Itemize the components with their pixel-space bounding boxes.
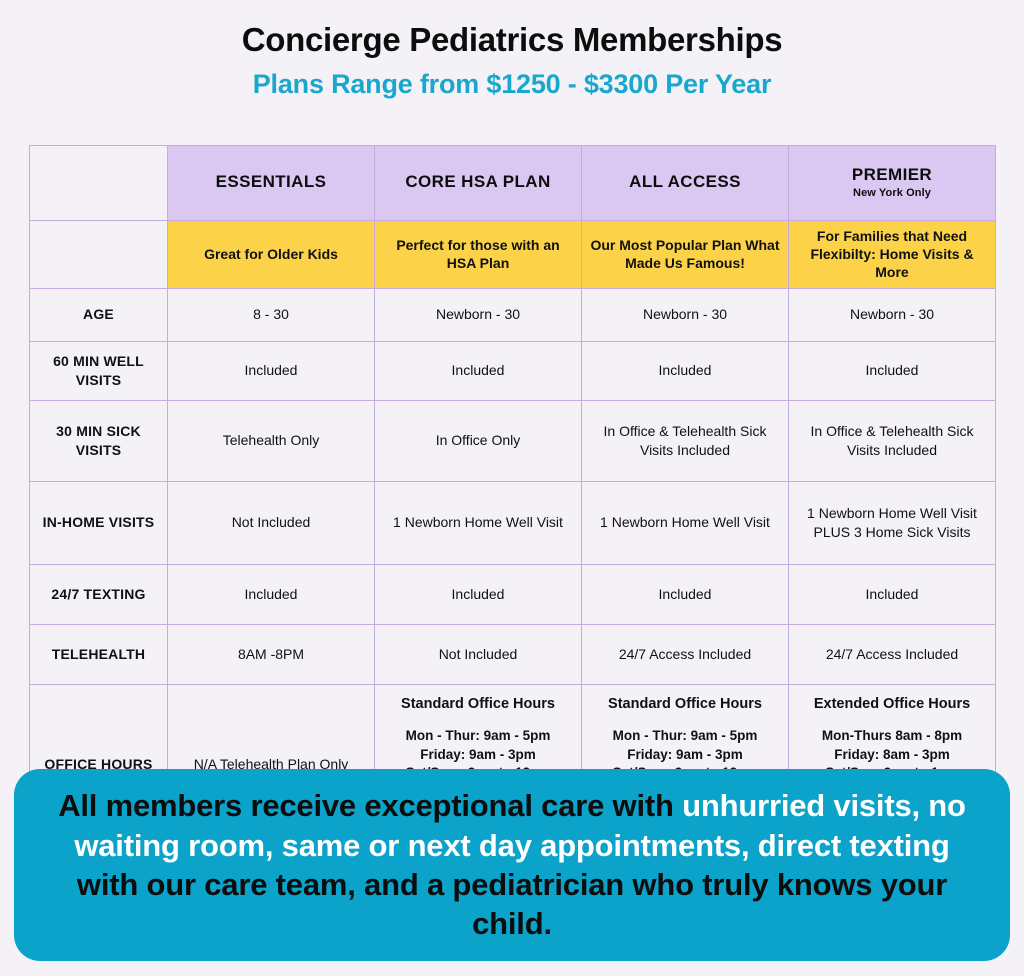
plan-tagline-core-hsa-plan: Perfect for those with an HSA Plan [375, 221, 582, 289]
feature-label-24-7-texting: 24/7 TEXTING [30, 564, 168, 624]
cell-30-min-sick-visits-premier: In Office & Telehealth Sick Visits Inclu… [789, 400, 996, 481]
plan-header-all-access: ALL ACCESS [582, 146, 789, 221]
feature-label-60-min-well-visits: 60 MIN WELL VISITS [30, 341, 168, 400]
promise-lead-text: All members receive exceptional care wit… [58, 788, 682, 823]
cell-age-all-access: Newborn - 30 [582, 288, 789, 341]
cell-24-7-texting-essentials: Included [168, 564, 375, 624]
promise-banner-text: All members receive exceptional care wit… [40, 786, 984, 943]
tagline-corner-cell [30, 221, 168, 289]
cell-60-min-well-visits-essentials: Included [168, 341, 375, 400]
plan-comparison-table: ESSENTIALS CORE HSA PLAN ALL ACCESS PREM… [29, 145, 996, 845]
table-row-60-min-well-visits: 60 MIN WELL VISITS Included Included Inc… [30, 341, 996, 400]
cell-60-min-well-visits-all-access: Included [582, 341, 789, 400]
cell-in-home-visits-all-access: 1 Newborn Home Well Visit [582, 481, 789, 564]
plan-name-premier: PREMIER [797, 166, 987, 185]
plan-header-core-hsa-plan: CORE HSA PLAN [375, 146, 582, 221]
cell-in-home-visits-premier: 1 Newborn Home Well Visit PLUS 3 Home Si… [789, 481, 996, 564]
cell-in-home-visits-core-hsa-plan: 1 Newborn Home Well Visit [375, 481, 582, 564]
plan-name-essentials: ESSENTIALS [176, 173, 366, 192]
page-header: Concierge Pediatrics Memberships Plans R… [0, 0, 1024, 100]
plan-comparison-table-wrapper: ESSENTIALS CORE HSA PLAN ALL ACCESS PREM… [29, 145, 995, 845]
office-hours-line: Mon - Thur: 9am - 5pm [590, 727, 780, 745]
cell-telehealth-core-hsa-plan: Not Included [375, 624, 582, 684]
feature-label-in-home-visits: IN-HOME VISITS [30, 481, 168, 564]
table-row-plan-taglines: Great for Older Kids Perfect for those w… [30, 221, 996, 289]
cell-age-essentials: 8 - 30 [168, 288, 375, 341]
table-row-30-min-sick-visits: 30 MIN SICK VISITS Telehealth Only In Of… [30, 400, 996, 481]
page-subtitle: Plans Range from $1250 - $3300 Per Year [0, 70, 1024, 100]
plan-header-premier: PREMIER New York Only [789, 146, 996, 221]
office-hours-line: Friday: 9am - 3pm [590, 746, 780, 764]
promise-banner: All members receive exceptional care wit… [14, 769, 1010, 961]
header-corner-cell [30, 146, 168, 221]
office-hours-line: Friday: 8am - 3pm [797, 746, 987, 764]
cell-telehealth-all-access: 24/7 Access Included [582, 624, 789, 684]
plan-tagline-premier: For Families that Need Flexibilty: Home … [789, 221, 996, 289]
plan-subtitle-premier: New York Only [797, 186, 987, 200]
cell-30-min-sick-visits-essentials: Telehealth Only [168, 400, 375, 481]
cell-30-min-sick-visits-core-hsa-plan: In Office Only [375, 400, 582, 481]
table-row-plan-headers: ESSENTIALS CORE HSA PLAN ALL ACCESS PREM… [30, 146, 996, 221]
plan-tagline-essentials: Great for Older Kids [168, 221, 375, 289]
table-row-24-7-texting: 24/7 TEXTING Included Included Included … [30, 564, 996, 624]
cell-60-min-well-visits-core-hsa-plan: Included [375, 341, 582, 400]
office-hours-title-all-access: Standard Office Hours [590, 695, 780, 714]
table-row-in-home-visits: IN-HOME VISITS Not Included 1 Newborn Ho… [30, 481, 996, 564]
plan-header-essentials: ESSENTIALS [168, 146, 375, 221]
office-hours-title-core-hsa-plan: Standard Office Hours [383, 695, 573, 714]
cell-60-min-well-visits-premier: Included [789, 341, 996, 400]
cell-30-min-sick-visits-all-access: In Office & Telehealth Sick Visits Inclu… [582, 400, 789, 481]
feature-label-age: AGE [30, 288, 168, 341]
office-hours-line: Mon - Thur: 9am - 5pm [383, 727, 573, 745]
cell-24-7-texting-premier: Included [789, 564, 996, 624]
cell-24-7-texting-all-access: Included [582, 564, 789, 624]
feature-label-30-min-sick-visits: 30 MIN SICK VISITS [30, 400, 168, 481]
page-title: Concierge Pediatrics Memberships [0, 22, 1024, 58]
cell-age-premier: Newborn - 30 [789, 288, 996, 341]
table-row-telehealth: TELEHEALTH 8AM -8PM Not Included 24/7 Ac… [30, 624, 996, 684]
table-row-age: AGE 8 - 30 Newborn - 30 Newborn - 30 New… [30, 288, 996, 341]
promise-trail-text: with our care team, and a pediatrician w… [77, 867, 947, 941]
office-hours-line: Friday: 9am - 3pm [383, 746, 573, 764]
office-hours-title-premier: Extended Office Hours [797, 695, 987, 714]
cell-telehealth-essentials: 8AM -8PM [168, 624, 375, 684]
plan-tagline-all-access: Our Most Popular Plan What Made Us Famou… [582, 221, 789, 289]
plan-name-core-hsa-plan: CORE HSA PLAN [383, 173, 573, 192]
cell-24-7-texting-core-hsa-plan: Included [375, 564, 582, 624]
cell-age-core-hsa-plan: Newborn - 30 [375, 288, 582, 341]
plan-name-all-access: ALL ACCESS [590, 173, 780, 192]
cell-telehealth-premier: 24/7 Access Included [789, 624, 996, 684]
feature-label-telehealth: TELEHEALTH [30, 624, 168, 684]
cell-in-home-visits-essentials: Not Included [168, 481, 375, 564]
office-hours-line: Mon-Thurs 8am - 8pm [797, 727, 987, 745]
